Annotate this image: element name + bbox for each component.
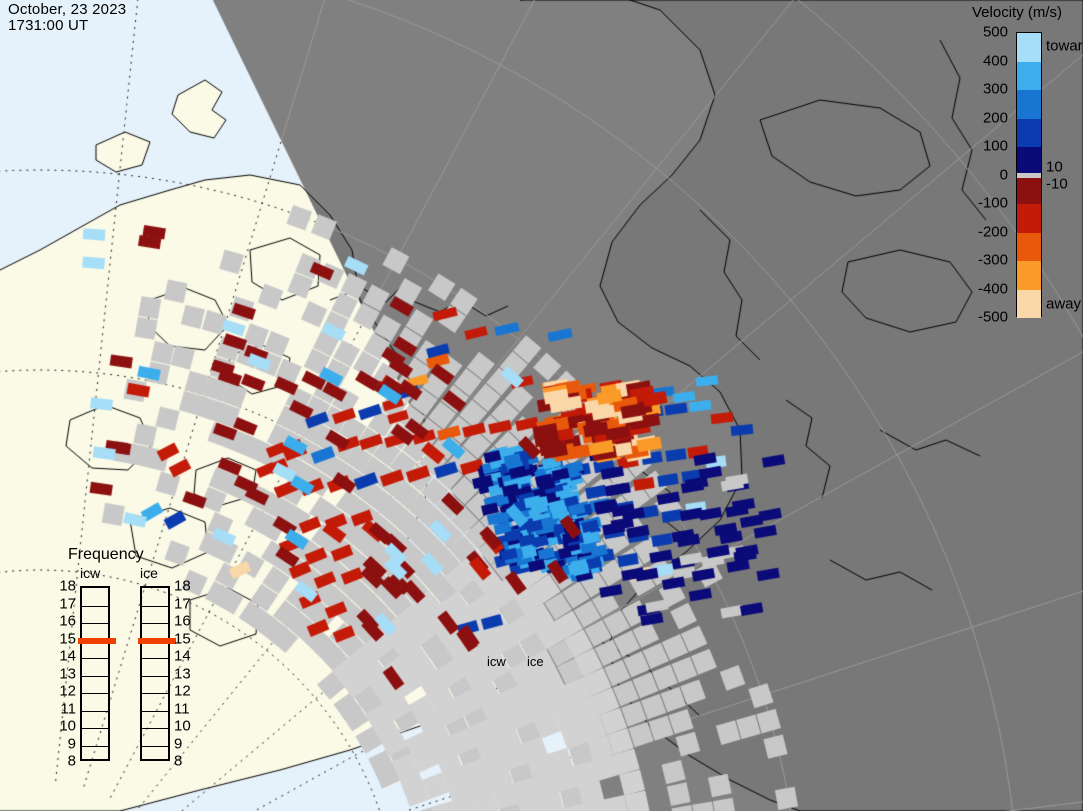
frequency-bar-divider (142, 623, 168, 624)
frequency-tick: 11 (60, 700, 76, 717)
colorbar-tick: 200 (983, 109, 1008, 126)
frequency-bar-divider (82, 728, 108, 729)
frequency-bar-divider (82, 711, 108, 712)
colorbar-tick: 0 (1000, 166, 1008, 183)
colorbar-tick: -100 (978, 195, 1008, 212)
frequency-bar-divider (142, 658, 168, 659)
colorbar-segment (1017, 119, 1041, 148)
frequency-tick: 16 (174, 613, 191, 630)
colorbar-side-labels: toward10-10away (1046, 32, 1083, 317)
frequency-tick: 8 (174, 753, 182, 770)
colorbar-segment (1017, 233, 1041, 262)
frequency-tick: 8 (68, 753, 76, 770)
frequency-column-header-ice: ice (140, 565, 158, 581)
frequency-marker-icw (78, 638, 116, 644)
colorbar-gradient (1016, 32, 1042, 317)
frequency-tick: 18 (174, 578, 191, 595)
colorbar-segment (1017, 178, 1041, 204)
frequency-tick: 14 (174, 648, 191, 665)
frequency-bar-divider (142, 746, 168, 747)
colorbar-negative-threshold-label: -10 (1046, 176, 1068, 193)
frequency-bar-divider (142, 711, 168, 712)
colorbar-segment (1017, 261, 1041, 290)
frequency-tick-labels-ice: 18171615141312111098 (174, 586, 200, 761)
colorbar-segment (1017, 147, 1041, 173)
frequency-tick: 16 (59, 613, 76, 630)
colorbar-tick: -400 (978, 280, 1008, 297)
frequency-tick: 13 (59, 665, 76, 682)
frequency-tick: 18 (59, 578, 76, 595)
colorbar-tick: 500 (983, 24, 1008, 41)
colorbar-title: Velocity (m/s) (972, 4, 1062, 21)
frequency-bar-divider (82, 676, 108, 677)
timestamp-time: 1731:00 UT (8, 18, 126, 34)
colorbar-tick: 300 (983, 81, 1008, 98)
colorbar-tick: -200 (978, 223, 1008, 240)
frequency-tick: 17 (59, 595, 76, 612)
frequency-bar-divider (82, 746, 108, 747)
colorbar-tick: 100 (983, 138, 1008, 155)
colorbar-segment (1017, 62, 1041, 91)
frequency-column-header-icw: icw (80, 565, 100, 581)
frequency-bar-divider (82, 693, 108, 694)
colorbar-toward-label: toward (1046, 38, 1083, 55)
frequency-tick: 10 (174, 718, 191, 735)
radar-map-screenshot: October, 23 2023 1731:00 UT Velocity (m/… (0, 0, 1083, 811)
frequency-bar-divider (142, 606, 168, 607)
frequency-bar-divider (142, 728, 168, 729)
frequency-legend-title: Frequency (68, 546, 144, 564)
frequency-bar-divider (142, 693, 168, 694)
frequency-tick-labels-icw: 18171615141312111098 (50, 586, 76, 761)
frequency-tick: 15 (174, 630, 191, 647)
colorbar-segment (1017, 33, 1041, 62)
frequency-tick: 15 (59, 630, 76, 647)
frequency-tick: 13 (174, 665, 191, 682)
frequency-bar-divider (142, 676, 168, 677)
frequency-tick: 17 (174, 595, 191, 612)
colorbar-tick: -500 (978, 309, 1008, 326)
frequency-bar-divider (82, 623, 108, 624)
velocity-colorbar-panel: Velocity (m/s) 5004003002001000-100-200-… (958, 2, 1083, 332)
colorbar-tick: 400 (983, 52, 1008, 69)
frequency-bar-icw (80, 586, 110, 761)
frequency-bar-divider (82, 606, 108, 607)
colorbar-tick: -300 (978, 252, 1008, 269)
frequency-tick: 9 (68, 735, 76, 752)
frequency-tick: 14 (59, 648, 76, 665)
frequency-legend: Frequency icw18171615141312111098ice1817… (52, 546, 182, 796)
frequency-tick: 12 (174, 683, 191, 700)
colorbar-tick-labels: 5004003002001000-100-200-300-400-500 (958, 32, 1012, 317)
frequency-tick: 12 (59, 683, 76, 700)
colorbar-positive-threshold-label: 10 (1046, 159, 1063, 176)
colorbar-segment (1017, 204, 1041, 233)
colorbar-segment (1017, 90, 1041, 119)
frequency-tick: 11 (174, 700, 190, 717)
colorbar-away-label: away (1046, 296, 1081, 313)
timestamp: October, 23 2023 1731:00 UT (8, 2, 126, 34)
frequency-marker-ice (138, 638, 176, 644)
frequency-bar-divider (82, 658, 108, 659)
colorbar-segment (1017, 290, 1041, 319)
frequency-bar-ice (140, 586, 170, 761)
frequency-tick: 10 (59, 718, 76, 735)
timestamp-date: October, 23 2023 (8, 2, 126, 18)
frequency-tick: 9 (174, 735, 182, 752)
